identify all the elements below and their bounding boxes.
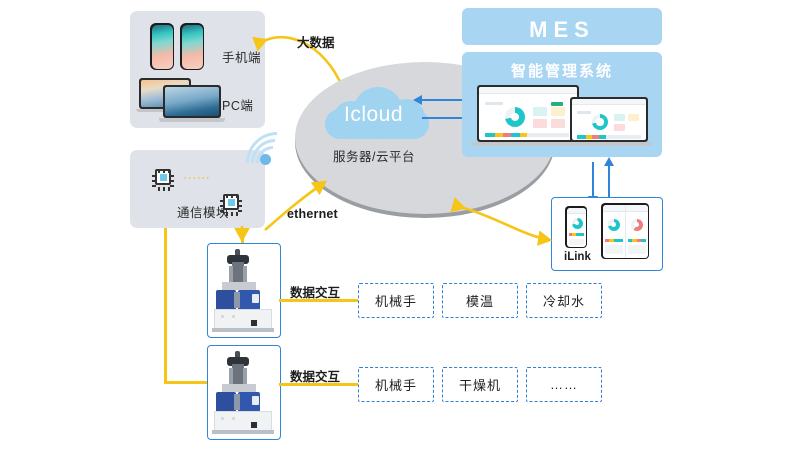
diagram-canvas: 手机端 PC端 大数据 ······ <box>0 0 800 450</box>
mes-subtitle: 智能管理系统 <box>462 52 662 81</box>
icloud-label: Icloud <box>344 103 403 127</box>
ilink-panel: iLink <box>551 197 663 271</box>
cloud-ilink-arrow <box>452 196 562 256</box>
chip-icon-1 <box>152 169 174 191</box>
peripheral-label: 机械手 <box>375 291 417 310</box>
peripheral-box-2-2: 干燥机 <box>442 367 518 402</box>
mes-laptop-large <box>477 85 579 147</box>
peripheral-box-1-3: 冷却水 <box>526 283 602 318</box>
ilink-phone-double <box>601 203 649 259</box>
peripheral-box-2-1: 机械手 <box>358 367 434 402</box>
ilink-label: iLink <box>564 251 591 263</box>
mes-title-panel: MES <box>462 8 662 45</box>
phone-mockup-1 <box>150 23 174 70</box>
bigdata-label: 大数据 <box>297 32 335 51</box>
peripheral-label: 干燥机 <box>459 375 501 394</box>
comm-left-drop-line <box>164 228 167 383</box>
peripheral-box-1-2: 模温 <box>442 283 518 318</box>
peripheral-label: 冷却水 <box>543 291 585 310</box>
peripheral-box-2-3: …… <box>526 367 602 402</box>
mes-ilink-exchange-arrows <box>588 160 622 202</box>
injection-machine-1 <box>207 243 281 338</box>
mes-title: MES <box>462 8 662 52</box>
comm-dots: ······ <box>184 173 211 183</box>
ethernet-arrow <box>255 150 360 235</box>
ethernet-label: ethernet <box>287 207 338 221</box>
laptop-mockup-front <box>163 85 221 123</box>
peripheral-label: 机械手 <box>375 375 417 394</box>
peripheral-box-1-1: 机械手 <box>358 283 434 318</box>
peripheral-label: …… <box>550 377 578 392</box>
phone-mockup-2 <box>180 23 204 70</box>
ilink-phone-single <box>565 206 587 248</box>
mes-system-panel: 智能管理系统 <box>462 52 662 157</box>
comm-module-label: 通信模块 <box>177 202 229 221</box>
icloud-shape: Icloud <box>325 85 429 141</box>
machine2-link-label: 数据交互 <box>290 366 340 385</box>
peripheral-label: 模温 <box>466 291 494 310</box>
mes-laptop-small <box>570 97 648 147</box>
injection-machine-2 <box>207 345 281 440</box>
comm-to-machine2-line <box>164 381 212 384</box>
machine1-link-label: 数据交互 <box>290 282 340 301</box>
